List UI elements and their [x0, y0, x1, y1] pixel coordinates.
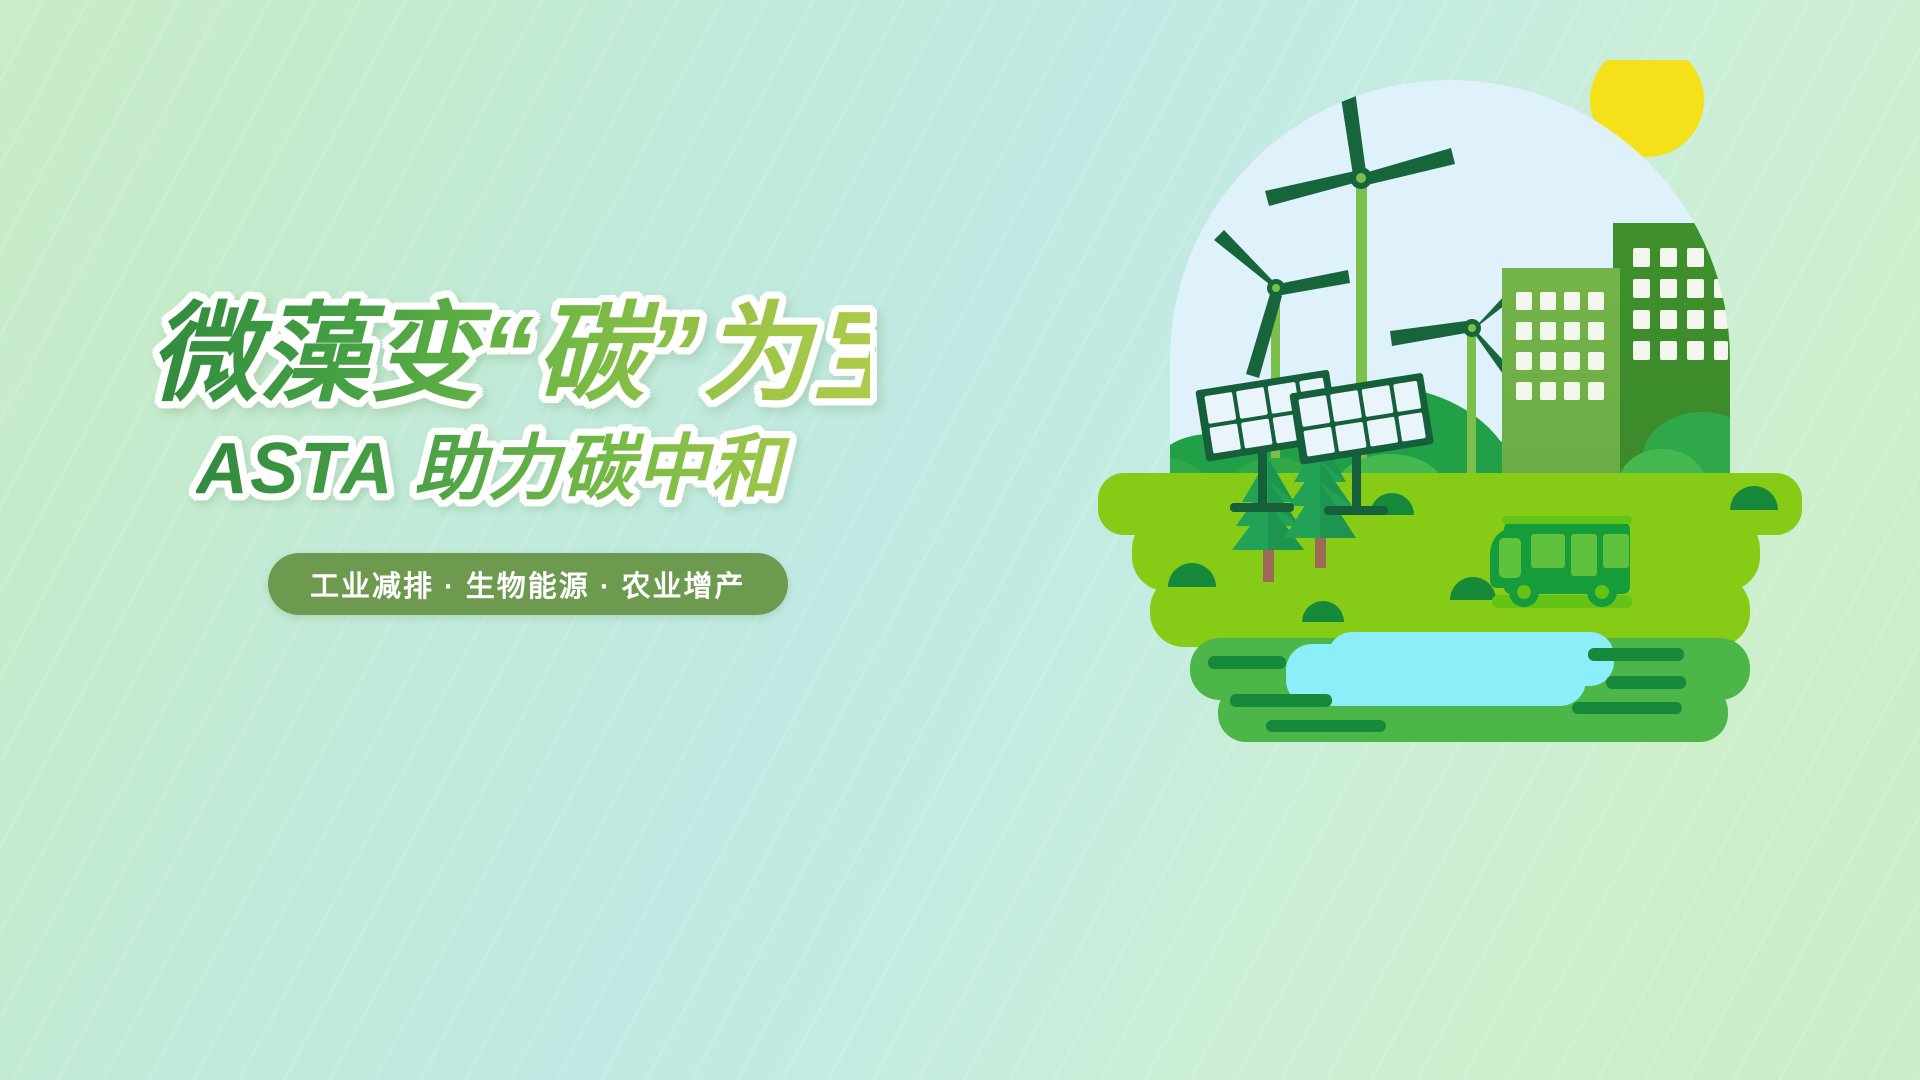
eco-banner: 微藻变“碳”为宝 ASTA 助力碳中和 工业减排 · 生物能源 · 农业增产 [0, 0, 1920, 1080]
ground [1098, 473, 1802, 742]
copy-block: 微藻变“碳”为宝 ASTA 助力碳中和 工业减排 · 生物能源 · 农业增产 [150, 296, 870, 615]
page-subtitle: ASTA 助力碳中和 [196, 429, 870, 510]
eco-city-illustration [1090, 60, 1810, 780]
tagline-badge: 工业减排 · 生物能源 · 农业增产 [268, 553, 788, 615]
page-title: 微藻变“碳”为宝 [150, 296, 870, 413]
lake [1286, 632, 1614, 706]
